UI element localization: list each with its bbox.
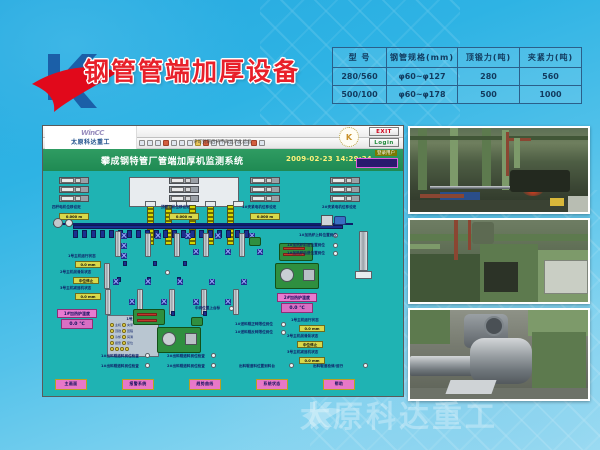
- status-right-1-label: 1#加热炉前进位置到位: [287, 244, 325, 248]
- right-column-base: [355, 271, 372, 279]
- status-right-2-label: 1#加热炉后退位置到位: [287, 252, 325, 256]
- watermark-logo-icon: [302, 396, 342, 430]
- nav-button-status[interactable]: 系统状态: [256, 379, 288, 390]
- status-lamp: [281, 322, 286, 327]
- photo-detail: [470, 338, 532, 384]
- photo-detail: [445, 380, 496, 394]
- login-button[interactable]: Login: [369, 138, 399, 147]
- lamp-icon: [122, 335, 126, 339]
- column-cap: [145, 201, 156, 207]
- spec-table: 型 号 钢管规格(mm) 顶锻力(吨) 夹紧力(吨) 280/560 φ60~φ…: [332, 47, 582, 104]
- license-hint: 许可到期后将不再显示此信息: [193, 139, 252, 145]
- photo-detail: [420, 194, 464, 198]
- help-icon[interactable]: [259, 140, 265, 146]
- valve-icon: [225, 299, 231, 305]
- status-bottom-extra-label: 1#出料辊道料到位检查: [101, 355, 139, 359]
- drive-motor: [321, 215, 333, 226]
- valve-block: [163, 230, 168, 238]
- table-header-row: 型 号 钢管规格(mm) 顶锻力(吨) 夹紧力(吨): [333, 48, 582, 68]
- table-cell: 500: [457, 86, 519, 104]
- exit-button[interactable]: EXIT: [369, 127, 399, 136]
- table-row: 500/100 φ60~φ178 500 1000: [333, 86, 582, 104]
- lamp-icon: [110, 323, 114, 327]
- valve-icon: [215, 233, 221, 239]
- main-motor-3-value: 0.0 mm: [75, 293, 101, 300]
- pressure-line: [137, 319, 157, 322]
- right-motor-position-label: 1#夹紧电机位移设定: [242, 206, 276, 210]
- status-lamp: [281, 330, 286, 335]
- nav-button-trend[interactable]: 趋势曲线: [189, 379, 221, 390]
- valve-icon: [241, 279, 247, 285]
- valve-block: [82, 230, 87, 238]
- photo-detail: [532, 332, 586, 390]
- table-cell: 560: [519, 68, 581, 86]
- hmi-vendor-logo: WinCC 太原科达重工: [45, 126, 137, 149]
- motor-meter: [169, 195, 199, 202]
- hydraulic-pump-unit: [275, 263, 319, 289]
- hmi-company-name: 太原科达重工: [71, 137, 110, 146]
- right-stack-label: 2号主机润滑泵状态: [287, 335, 318, 339]
- panel-row-label: 润滑: [127, 335, 133, 339]
- nav-button-alarm[interactable]: 报警系统: [122, 379, 154, 390]
- hydraulic-cylinder: [145, 233, 151, 257]
- hmi-mimic-diagram: 四杆电机位移设定 0.000 m 顶镦电机位移设定 0.000 m 1#夹紧电机…: [43, 171, 403, 397]
- valve-block: [91, 230, 96, 238]
- valve-icon: [113, 279, 119, 285]
- table-cell: 1000: [519, 86, 581, 104]
- status-lamp: [229, 306, 234, 311]
- status-lamp: [145, 353, 150, 358]
- photo-workshop-press-line: [408, 126, 590, 214]
- valve-block: [127, 230, 132, 238]
- table-cell: 280: [457, 68, 519, 86]
- hydraulic-cylinder: [203, 233, 209, 257]
- photo-detail: [410, 136, 590, 140]
- valve-icon: [257, 249, 263, 255]
- motor-meter: [330, 186, 360, 193]
- table-header-cell: 顶锻力(吨): [457, 48, 519, 68]
- status-lamp: [145, 363, 150, 368]
- main-motor-1-label: 1号主机运行状态: [68, 255, 96, 259]
- valve-icon: [185, 233, 191, 239]
- valve-icon: [193, 249, 199, 255]
- lamp-icon: [110, 329, 114, 333]
- slide-root: 钢管管端加厚设备 型 号 钢管规格(mm) 顶锻力(吨) 夹紧力(吨) 280/…: [0, 0, 600, 450]
- panel-row-label: 回程: [127, 329, 133, 333]
- photo-pipe-end-closeup: [408, 308, 590, 401]
- valve-icon: [121, 233, 127, 239]
- valve-block-unit: [133, 309, 165, 325]
- valve-icon: [145, 279, 151, 285]
- status-lamp: [289, 363, 294, 368]
- panel-row-label: 复位: [127, 341, 133, 345]
- photo-detail: [410, 244, 440, 249]
- panel-row-label: 主机: [115, 323, 121, 327]
- photo-detail: [484, 316, 504, 336]
- pump-tank-icon: [185, 333, 197, 345]
- status-bottom-1-label: 1#出料辊道料到位检查: [101, 365, 139, 369]
- cooler-unit: [249, 237, 261, 246]
- photo-detail: [544, 260, 588, 294]
- panel-row-label: 顶镦: [115, 329, 121, 333]
- valve-icon: [129, 299, 135, 305]
- photo-detail: [510, 170, 570, 192]
- photo-detail: [410, 234, 590, 241]
- column-cap: [205, 201, 216, 207]
- pump-rotor-icon: [280, 268, 294, 282]
- heater2-temp-value: 0.0 ℃: [281, 303, 313, 313]
- main-motor-2-label: 2号主机润滑泵状态: [60, 271, 91, 275]
- hmi-user-label: 登录用户: [375, 150, 397, 156]
- status-lamp: [333, 251, 338, 256]
- left-motor-position-label: 四杆电机位移设定: [52, 206, 81, 210]
- valve-manifold: [73, 225, 343, 229]
- nav-button-main[interactable]: 主画面: [55, 379, 87, 390]
- save-icon[interactable]: [155, 140, 161, 146]
- photo-detail: [509, 138, 531, 141]
- hydraulic-cylinder: [233, 289, 239, 315]
- table-header-cell: 夹紧力(吨): [519, 48, 581, 68]
- motor-meter: [250, 177, 280, 184]
- photo-detail: [514, 138, 520, 168]
- valve-block: [226, 230, 231, 238]
- valve-block: [109, 230, 114, 238]
- copy-icon[interactable]: [179, 140, 185, 146]
- valve-icon: [121, 253, 127, 259]
- lamp-icon: [110, 341, 114, 345]
- status-lamp: [211, 363, 216, 368]
- photo-detail: [410, 310, 450, 344]
- motor-meter: [330, 177, 360, 184]
- lamp-icon: [122, 329, 126, 333]
- valve-block: [100, 230, 105, 238]
- open-icon[interactable]: [147, 140, 153, 146]
- hydraulic-cylinder: [174, 233, 180, 257]
- cut-icon[interactable]: [171, 140, 177, 146]
- motor-meter: [59, 177, 89, 184]
- sensor-block: [203, 311, 207, 316]
- motor-meter: [169, 177, 199, 184]
- right-stack-value: 0.0 mm: [299, 325, 325, 332]
- hmi-title-bar: 攀成钢特管厂管端加厚机监测系统 2009-02-23 14:29:24 登录用户: [43, 149, 403, 171]
- drive-motor-rotor: [334, 216, 346, 225]
- status-bottom-3-label: 出料辊道料位置到料台: [239, 365, 275, 369]
- hmi-user-input[interactable]: [356, 158, 398, 168]
- photo-detail: [410, 388, 590, 401]
- valve-block: [73, 230, 78, 238]
- new-icon[interactable]: [139, 140, 145, 146]
- license-dial-icon: K: [339, 127, 359, 147]
- heater2-temp-label: 2#加热炉温度: [277, 293, 317, 302]
- sensor-block: [153, 261, 157, 266]
- hydraulic-cylinder: [104, 263, 110, 289]
- motor-meter: [59, 195, 89, 202]
- photo-upsetting-machine: [408, 218, 590, 304]
- table-cell: φ60~φ127: [387, 68, 458, 86]
- table-cell: 280/560: [333, 68, 387, 86]
- panel-row-label: 报警: [115, 341, 121, 345]
- lamp-icon: [122, 323, 126, 327]
- status-lamp: [211, 353, 216, 358]
- table-header-cell: 型 号: [333, 48, 387, 68]
- hmi-system-title: 攀成钢特管厂管端加厚机监测系统: [101, 154, 244, 167]
- hmi-screenshot-window: WinCC 太原科达重工 许可到期后将不再显示此信息 K EXIT Login …: [42, 125, 404, 397]
- status-lamp: [165, 270, 170, 275]
- sensor-block: [171, 311, 175, 316]
- hydraulic-cylinder: [105, 289, 111, 315]
- main-motor-3-label: 3号主机减速机状态: [60, 287, 91, 291]
- mid-motor-readout: 0.000 m: [169, 213, 199, 220]
- photo-detail: [468, 220, 471, 250]
- sensor-block: [123, 261, 127, 266]
- right-stack-value: 0.0 mm: [299, 357, 325, 364]
- page-title: 钢管管端加厚设备: [84, 52, 300, 88]
- heater1-temp-value: 0.0 ℃: [61, 319, 93, 329]
- right-stack-label: 3号主机减速机状态: [287, 351, 318, 355]
- status-lamp: [333, 243, 338, 248]
- right-stack-value: 中位停止: [297, 341, 323, 348]
- table-header-cell: 钢管规格(mm): [387, 48, 458, 68]
- status-bottom-extra-label: 2#出料辊道料到位检查: [167, 355, 205, 359]
- valve-icon: [193, 299, 199, 305]
- status-bottom-2-label: 2#出料辊道料到位检查: [167, 365, 205, 369]
- right2-motor-position-label: 2#夹紧电机位移设定: [322, 206, 356, 210]
- status-bottom-4-label: 出料辊道检修/运行: [313, 365, 343, 369]
- valve-icon: [161, 299, 167, 305]
- lamp-icon: [125, 347, 129, 351]
- valve-icon: [121, 243, 127, 249]
- hydraulic-pump-unit: [157, 327, 201, 353]
- table-cell: 500/100: [333, 86, 387, 104]
- lamp-icon: [120, 347, 124, 351]
- main-motor-2-value: 中位停止: [73, 277, 99, 284]
- pressure-line: [137, 313, 157, 316]
- lamp-icon: [115, 347, 119, 351]
- status-lamp: [363, 363, 368, 368]
- lamp-icon: [110, 335, 114, 339]
- valve-icon: [225, 249, 231, 255]
- photo-detail: [472, 222, 494, 244]
- right-stack-label: 1号主机运行状态: [291, 319, 319, 323]
- photo-detail: [454, 220, 458, 260]
- left-motor-readout: 0.000 m: [59, 213, 89, 220]
- nav-button-help[interactable]: 帮助: [323, 379, 355, 390]
- pump-tank-icon: [303, 269, 315, 281]
- panel-row-label: 冷却: [115, 335, 121, 339]
- wincc-logo-text: WinCC: [77, 129, 104, 137]
- right-column-device: [359, 231, 368, 271]
- table-row: 280/560 φ60~φ127 280 560: [333, 68, 582, 86]
- panel-light-row[interactable]: [108, 346, 158, 352]
- lamp-icon: [122, 341, 126, 345]
- lamp-icon: [110, 347, 114, 351]
- motor-meter: [59, 186, 89, 193]
- hydraulic-cylinder: [239, 233, 245, 257]
- valve-icon: [177, 279, 183, 285]
- sensor-block: [183, 261, 187, 266]
- photo-detail: [484, 262, 518, 292]
- center-up-label: 中间位置上台标: [195, 307, 220, 311]
- valve-block: [136, 230, 141, 238]
- roller-wheel-icon: [65, 219, 73, 227]
- photo-detail: [550, 198, 564, 206]
- roller-wheel-icon: [53, 218, 63, 228]
- pump-rotor-icon: [162, 332, 176, 346]
- status-right-3-label: 1#加热炉上料位置到位: [299, 234, 337, 238]
- motor-meter: [250, 195, 280, 202]
- motor-meter: [250, 186, 280, 193]
- main-motor-1-value: 0.0 mm: [75, 261, 101, 268]
- print-icon[interactable]: [163, 140, 169, 146]
- heater1-temp-label: 1#加热炉温度: [57, 309, 97, 318]
- right-motor-readout: 0.000 m: [250, 213, 280, 220]
- status-left-1-label: 1#送料辊正转限位到位: [235, 323, 273, 327]
- photo-detail: [568, 196, 590, 212]
- table-cell: φ60~φ178: [387, 86, 458, 104]
- status-left-2-label: 1#送料辊反转限位到位: [235, 331, 273, 335]
- cooler-unit: [191, 317, 203, 326]
- motor-meter: [169, 186, 199, 193]
- photo-detail: [410, 254, 480, 304]
- valve-icon: [209, 279, 215, 285]
- motor-meter: [330, 195, 360, 202]
- mid-motor-position-label: 顶镦电机位移设定: [161, 206, 190, 210]
- valve-icon: [155, 233, 161, 239]
